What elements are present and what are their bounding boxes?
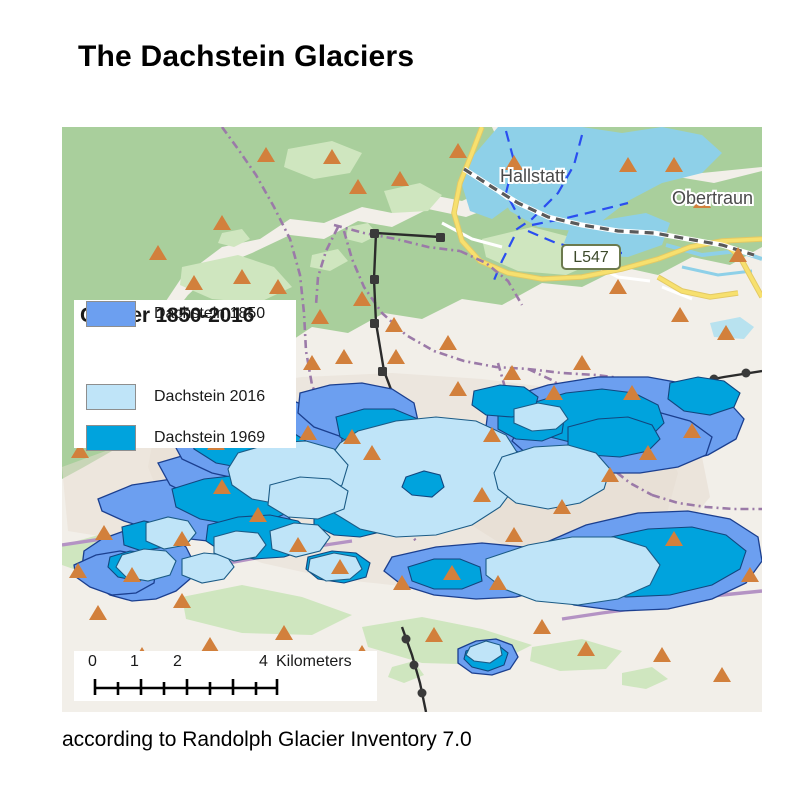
page-title: The Dachstein Glaciers [78, 40, 414, 74]
legend-swatch-1850 [86, 301, 136, 327]
scale-unit-label: Kilometers [276, 653, 352, 671]
scale-ruler-graphic [92, 677, 282, 695]
place-label-text: Obertraun [672, 188, 753, 208]
scale-label-1: 1 [130, 653, 139, 671]
scale-label-2: 2 [173, 653, 182, 671]
place-label-obertraun: Obertraun Obertraun [672, 188, 753, 208]
map-scalebar: 0 1 2 4 Kilometers [74, 651, 377, 701]
map-canvas[interactable]: Hallstatt Hallstatt Obertraun Obertraun … [62, 127, 762, 712]
legend-item-dachstein-2016[interactable]: Dachstein 2016 [86, 383, 265, 411]
road-shield-l547: L547 [562, 245, 620, 269]
place-label-hallstatt: Hallstatt Hallstatt [500, 166, 565, 186]
legend-item-dachstein-1850[interactable]: Dachstein 1850 [86, 300, 265, 328]
legend-label-2016: Dachstein 2016 [154, 388, 265, 406]
map-legend: Glacier 1850-2016 Dachstein 2016 Dachste… [74, 300, 296, 448]
road-shield-label: L547 [573, 249, 609, 266]
scale-label-4: 4 [259, 653, 268, 671]
legend-item-dachstein-1969[interactable]: Dachstein 1969 [86, 424, 265, 452]
legend-swatch-2016 [86, 384, 136, 410]
page-caption: according to Randolph Glacier Inventory … [62, 728, 472, 752]
legend-label-1850: Dachstein 1850 [154, 305, 265, 323]
place-label-text: Hallstatt [500, 166, 565, 186]
legend-label-1969: Dachstein 1969 [154, 429, 265, 447]
scale-label-0: 0 [88, 653, 97, 671]
legend-swatch-1969 [86, 425, 136, 451]
